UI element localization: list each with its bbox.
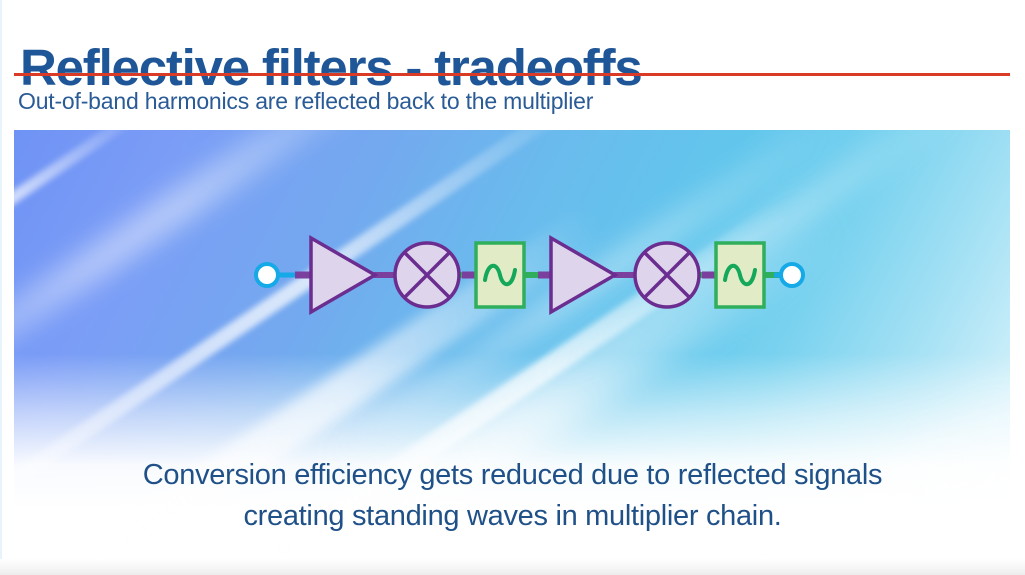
light-streak-icon — [314, 130, 838, 475]
rf-output-port-icon — [781, 264, 803, 286]
amplifier-2-icon — [551, 238, 615, 312]
caption-line-1: Conversion efficiency gets reduced due t… — [0, 455, 1025, 496]
reflective-filter-2-icon — [716, 243, 764, 307]
mixer-1-icon — [395, 243, 459, 307]
page-subtitle: Out-of-band harmonics are reflected back… — [18, 88, 593, 115]
mixer-2-icon — [635, 243, 699, 307]
light-streak-icon — [534, 130, 973, 392]
amplifier-1-icon — [311, 238, 375, 312]
caption-line-2: creating standing waves in multiplier ch… — [0, 496, 1025, 537]
footer-band — [0, 559, 1025, 575]
light-streak-icon — [14, 130, 419, 452]
diagram-caption: Conversion efficiency gets reduced due t… — [0, 455, 1025, 537]
slide: Reflective filters - tradeoffs Out-of-ba… — [0, 0, 1025, 575]
reflective-filter-1-icon — [476, 243, 524, 307]
light-streak-icon — [14, 130, 147, 355]
rf-input-port-icon — [256, 264, 278, 286]
title-underline-rule — [14, 73, 1010, 76]
